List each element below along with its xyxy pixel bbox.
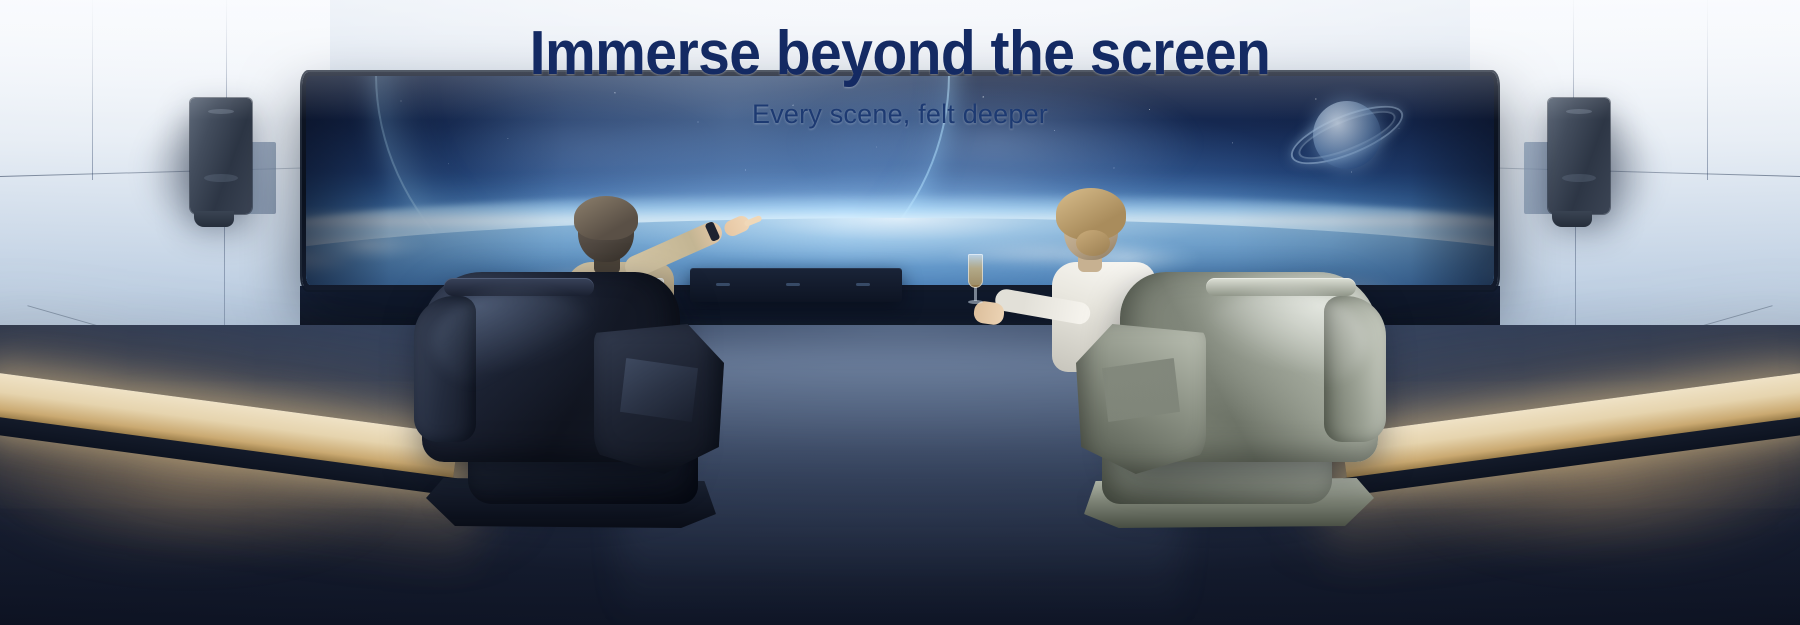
console-indicator: [786, 283, 800, 286]
screen-bezel: [302, 72, 1498, 290]
speaker-driver: [1566, 109, 1592, 114]
chair-highlight: [1198, 290, 1368, 394]
chair-highlight: [432, 290, 602, 394]
woman-hair-bun: [1076, 230, 1110, 256]
flute-bowl: [968, 254, 983, 288]
massage-chair-light: [1064, 272, 1392, 534]
man-hair: [574, 196, 638, 240]
wall-seam: [1573, 0, 1574, 100]
floor: [0, 325, 1800, 625]
flute-stem: [974, 287, 977, 301]
chair-accent-panel: [1102, 358, 1180, 422]
speaker-driver: [204, 174, 238, 182]
wall-seam: [92, 0, 93, 180]
screen-shading: [306, 76, 1494, 285]
speaker-driver: [208, 109, 234, 114]
hero-banner: Immerse beyond the screen Every scene, f…: [0, 0, 1800, 625]
speaker-foot: [194, 211, 234, 227]
flute-foot: [968, 300, 983, 304]
speaker-foot: [1552, 211, 1592, 227]
wall-seam: [1707, 0, 1708, 180]
massage-chair-dark: [408, 272, 736, 534]
speaker-driver: [1562, 174, 1596, 182]
champagne-flute-icon: [968, 254, 983, 304]
wall-speaker-left-icon: [190, 98, 252, 214]
console-indicator: [856, 283, 870, 286]
screen-surface: [306, 76, 1494, 285]
wall-seam: [226, 0, 227, 100]
curved-ultrawide-screen: [302, 72, 1498, 290]
chair-accent-panel: [620, 358, 698, 422]
wall-speaker-right-icon: [1548, 98, 1610, 214]
